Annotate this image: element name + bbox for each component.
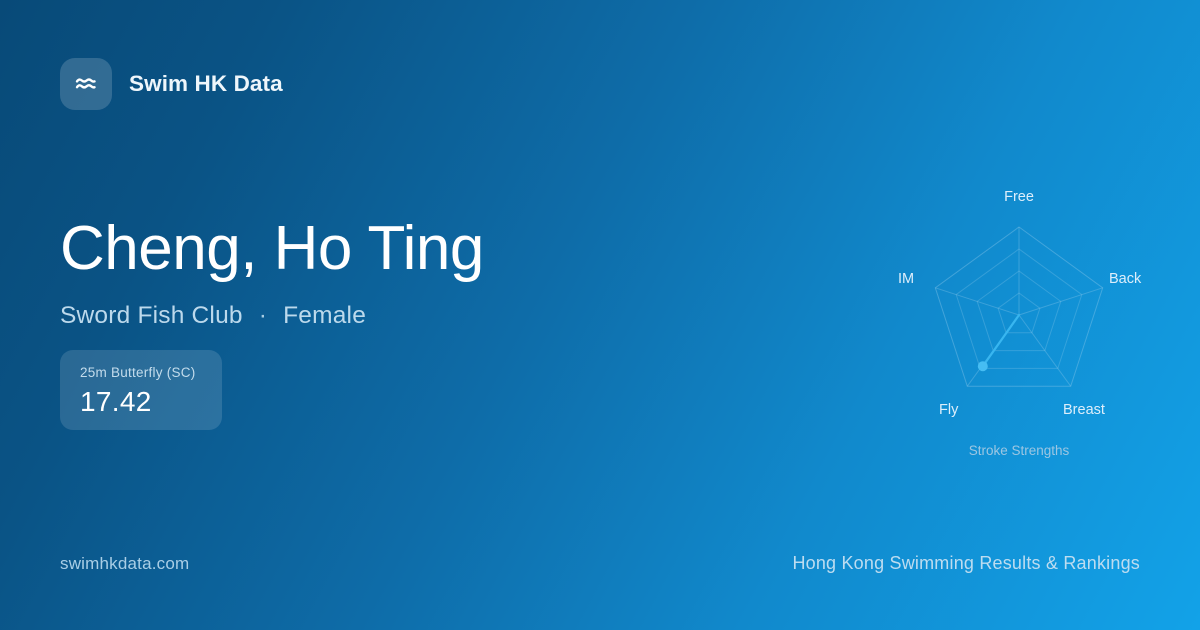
radar-label-free: Free bbox=[1004, 189, 1034, 205]
footer-site-url: swimhkdata.com bbox=[60, 554, 189, 574]
hero-block: Cheng, Ho Ting Sword Fish Club · Female bbox=[60, 218, 760, 330]
highlight-stat-card: 25m Butterfly (SC) 17.42 bbox=[60, 350, 222, 430]
radar-label-breast: Breast bbox=[1063, 402, 1105, 418]
footer-tagline: Hong Kong Swimming Results & Rankings bbox=[792, 553, 1140, 574]
app-logo bbox=[60, 58, 112, 110]
radar-caption: Stroke Strengths bbox=[969, 443, 1070, 458]
waves-icon bbox=[72, 70, 100, 98]
stat-event-label: 25m Butterfly (SC) bbox=[80, 365, 202, 380]
radar-point-fly bbox=[978, 361, 988, 371]
meta-separator: · bbox=[250, 302, 276, 330]
radar-chart-svg bbox=[869, 175, 1169, 465]
radar-grid bbox=[935, 227, 1102, 386]
stat-time-value: 17.42 bbox=[80, 386, 202, 418]
athlete-name: Cheng, Ho Ting bbox=[60, 218, 760, 280]
brand-name: Swim HK Data bbox=[129, 71, 283, 97]
radar-label-im: IM bbox=[898, 271, 914, 287]
athlete-gender: Female bbox=[283, 302, 366, 329]
social-share-card: Swim HK Data Cheng, Ho Ting Sword Fish C… bbox=[0, 0, 1200, 630]
athlete-meta: Sword Fish Club · Female bbox=[60, 302, 760, 330]
stroke-strengths-radar: Free Back Breast Fly IM Stroke Strengths bbox=[869, 175, 1169, 465]
athlete-club: Sword Fish Club bbox=[60, 302, 243, 329]
radar-label-fly: Fly bbox=[939, 402, 958, 418]
brand-lockup: Swim HK Data bbox=[60, 58, 283, 110]
radar-label-back: Back bbox=[1109, 271, 1141, 287]
